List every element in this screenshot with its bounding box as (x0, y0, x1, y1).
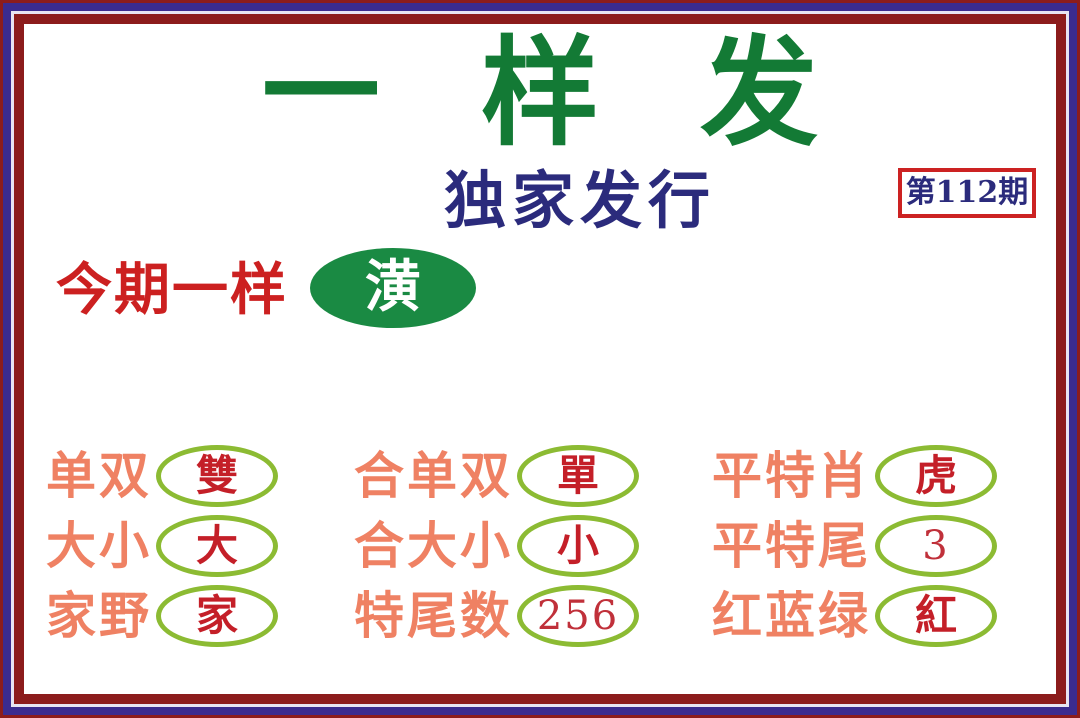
subtitle: 独家发行 (444, 164, 716, 238)
result-cell: 合单双單 (354, 442, 639, 510)
highlight-value-oval: 潢 (310, 248, 476, 328)
result-value-oval: 虎 (875, 445, 997, 507)
result-value-oval: 3 (875, 515, 997, 577)
result-cell: 红蓝绿紅 (712, 582, 997, 650)
result-value-oval: 大 (156, 515, 278, 577)
result-cell: 特尾数256 (354, 582, 639, 650)
result-value-oval: 單 (517, 445, 639, 507)
issue-badge: 第112期 (898, 168, 1036, 218)
page-title: 一 样 发 (24, 30, 1056, 157)
result-cell: 平特肖虎 (712, 442, 997, 510)
result-cell: 大小大 (46, 512, 278, 580)
highlight-label: 今期一样 (56, 258, 288, 324)
result-label: 平特肖 (712, 442, 871, 510)
content-panel: 一 样 发 独家发行 第112期 今期一样 潢 单双雙合单双單平特肖虎大小大合大… (24, 24, 1056, 694)
result-label: 平特尾 (712, 512, 871, 580)
result-label: 家野 (46, 582, 152, 650)
result-label: 合单双 (354, 442, 513, 510)
result-value-oval: 紅 (875, 585, 997, 647)
result-cell: 平特尾3 (712, 512, 997, 580)
subtitle-row: 独家发行 第112期 (24, 164, 1056, 244)
result-value-oval: 家 (156, 585, 278, 647)
result-label: 特尾数 (354, 582, 513, 650)
result-value-oval: 256 (517, 585, 639, 647)
result-cell: 家野家 (46, 582, 278, 650)
result-label: 大小 (46, 512, 152, 580)
result-cell: 合大小小 (354, 512, 639, 580)
results-row: 大小大合大小小平特尾3 (24, 512, 1056, 580)
poster-frame: 一 样 发 独家发行 第112期 今期一样 潢 单双雙合单双單平特肖虎大小大合大… (0, 0, 1080, 718)
result-label: 合大小 (354, 512, 513, 580)
result-value-oval: 雙 (156, 445, 278, 507)
result-label: 红蓝绿 (712, 582, 871, 650)
results-row: 单双雙合单双單平特肖虎 (24, 442, 1056, 510)
results-row: 家野家特尾数256红蓝绿紅 (24, 582, 1056, 650)
result-label: 单双 (46, 442, 152, 510)
result-value-oval: 小 (517, 515, 639, 577)
results-grid: 单双雙合单双單平特肖虎大小大合大小小平特尾3家野家特尾数256红蓝绿紅 (24, 442, 1056, 652)
result-cell: 单双雙 (46, 442, 278, 510)
highlight-row: 今期一样 潢 (24, 244, 1056, 354)
